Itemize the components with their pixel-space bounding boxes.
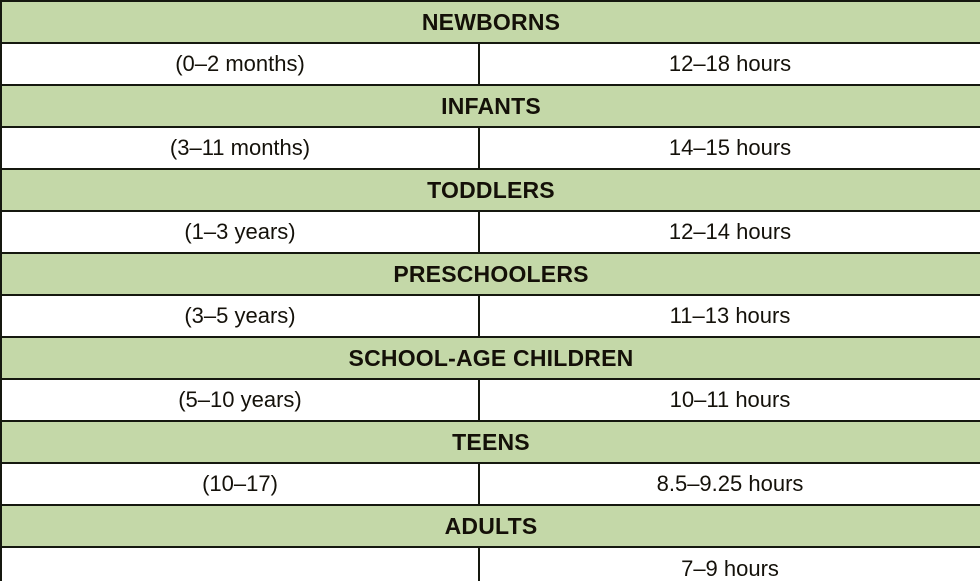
group-header-school-age-children: SCHOOL-AGE CHILDREN xyxy=(1,337,980,379)
table-row-group-header: ADULTS xyxy=(1,505,980,547)
table-row-group-header: TEENS xyxy=(1,421,980,463)
age-range-toddlers: (1–3 years) xyxy=(1,211,479,253)
table-row-group-header: TODDLERS xyxy=(1,169,980,211)
sleep-duration-table: NEWBORNS (0–2 months) 12–18 hours INFANT… xyxy=(0,0,980,581)
table-row-group-header: PRESCHOOLERS xyxy=(1,253,980,295)
sleep-hours-newborns: 12–18 hours xyxy=(479,43,980,85)
table-row: (3–11 months) 14–15 hours xyxy=(1,127,980,169)
sleep-hours-toddlers: 12–14 hours xyxy=(479,211,980,253)
age-range-newborns: (0–2 months) xyxy=(1,43,479,85)
age-range-preschoolers: (3–5 years) xyxy=(1,295,479,337)
sleep-hours-preschoolers: 11–13 hours xyxy=(479,295,980,337)
group-header-preschoolers: PRESCHOOLERS xyxy=(1,253,980,295)
table-row: 7–9 hours xyxy=(1,547,980,581)
age-range-teens: (10–17) xyxy=(1,463,479,505)
table-row-group-header: INFANTS xyxy=(1,85,980,127)
sleep-hours-adults: 7–9 hours xyxy=(479,547,980,581)
table-row: (5–10 years) 10–11 hours xyxy=(1,379,980,421)
table-row-group-header: SCHOOL-AGE CHILDREN xyxy=(1,337,980,379)
sleep-hours-school-age-children: 10–11 hours xyxy=(479,379,980,421)
group-header-adults: ADULTS xyxy=(1,505,980,547)
group-header-toddlers: TODDLERS xyxy=(1,169,980,211)
age-range-school-age-children: (5–10 years) xyxy=(1,379,479,421)
group-header-teens: TEENS xyxy=(1,421,980,463)
table-row: (0–2 months) 12–18 hours xyxy=(1,43,980,85)
sleep-hours-teens: 8.5–9.25 hours xyxy=(479,463,980,505)
table-row: (1–3 years) 12–14 hours xyxy=(1,211,980,253)
group-header-infants: INFANTS xyxy=(1,85,980,127)
age-range-adults xyxy=(1,547,479,581)
age-range-infants: (3–11 months) xyxy=(1,127,479,169)
table-row: (3–5 years) 11–13 hours xyxy=(1,295,980,337)
group-header-newborns: NEWBORNS xyxy=(1,1,980,43)
table-row-group-header: NEWBORNS xyxy=(1,1,980,43)
sleep-hours-infants: 14–15 hours xyxy=(479,127,980,169)
table-body: NEWBORNS (0–2 months) 12–18 hours INFANT… xyxy=(1,1,980,581)
table-row: (10–17) 8.5–9.25 hours xyxy=(1,463,980,505)
sleep-duration-table-container: NEWBORNS (0–2 months) 12–18 hours INFANT… xyxy=(0,0,980,581)
